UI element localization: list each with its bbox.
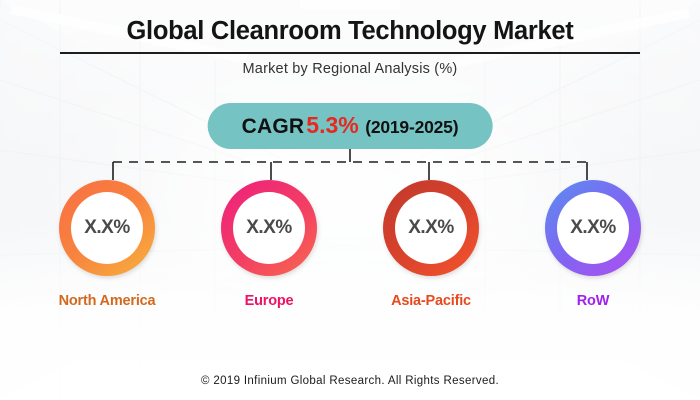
- region-item-asia-pacific[interactable]: X.X% Asia-Pacific: [356, 180, 506, 309]
- region-label-asia-pacific: Asia-Pacific: [391, 293, 471, 309]
- donut-value-north-america: X.X%: [84, 217, 130, 239]
- region-label-row: RoW: [577, 293, 609, 309]
- title-underline-rule: [60, 52, 640, 54]
- region-item-north-america[interactable]: X.X% North America: [32, 180, 182, 309]
- cagr-badge: CAGR5.3% (2019-2025): [208, 103, 493, 149]
- header: Global Cleanroom Technology Market Marke…: [0, 0, 700, 77]
- region-item-europe[interactable]: X.X% Europe: [194, 180, 344, 309]
- cagr-label: CAGR: [242, 115, 305, 138]
- cagr-period: (2019-2025): [365, 117, 458, 137]
- donut-hole-europe: X.X%: [233, 192, 305, 264]
- donut-ring-europe: X.X%: [221, 180, 317, 276]
- region-donut-row: X.X% North America X.X% Europe X.X% Asia…: [0, 180, 700, 309]
- page-subtitle: Market by Regional Analysis (%): [0, 61, 700, 77]
- region-item-row[interactable]: X.X% RoW: [518, 180, 668, 309]
- region-label-europe: Europe: [245, 293, 294, 309]
- donut-hole-asia-pacific: X.X%: [395, 192, 467, 264]
- donut-value-europe: X.X%: [246, 217, 292, 239]
- page-title: Global Cleanroom Technology Market: [0, 0, 700, 46]
- region-label-north-america: North America: [59, 293, 156, 309]
- donut-ring-row: X.X%: [545, 180, 641, 276]
- donut-ring-asia-pacific: X.X%: [383, 180, 479, 276]
- copyright-footer: © 2019 Infinium Global Research. All Rig…: [0, 375, 700, 387]
- donut-value-asia-pacific: X.X%: [408, 217, 454, 239]
- donut-ring-north-america: X.X%: [59, 180, 155, 276]
- donut-value-row: X.X%: [570, 217, 616, 239]
- donut-hole-row: X.X%: [557, 192, 629, 264]
- donut-hole-north-america: X.X%: [71, 192, 143, 264]
- infographic-canvas: Global Cleanroom Technology Market Marke…: [0, 0, 700, 400]
- cagr-value: 5.3%: [304, 112, 360, 138]
